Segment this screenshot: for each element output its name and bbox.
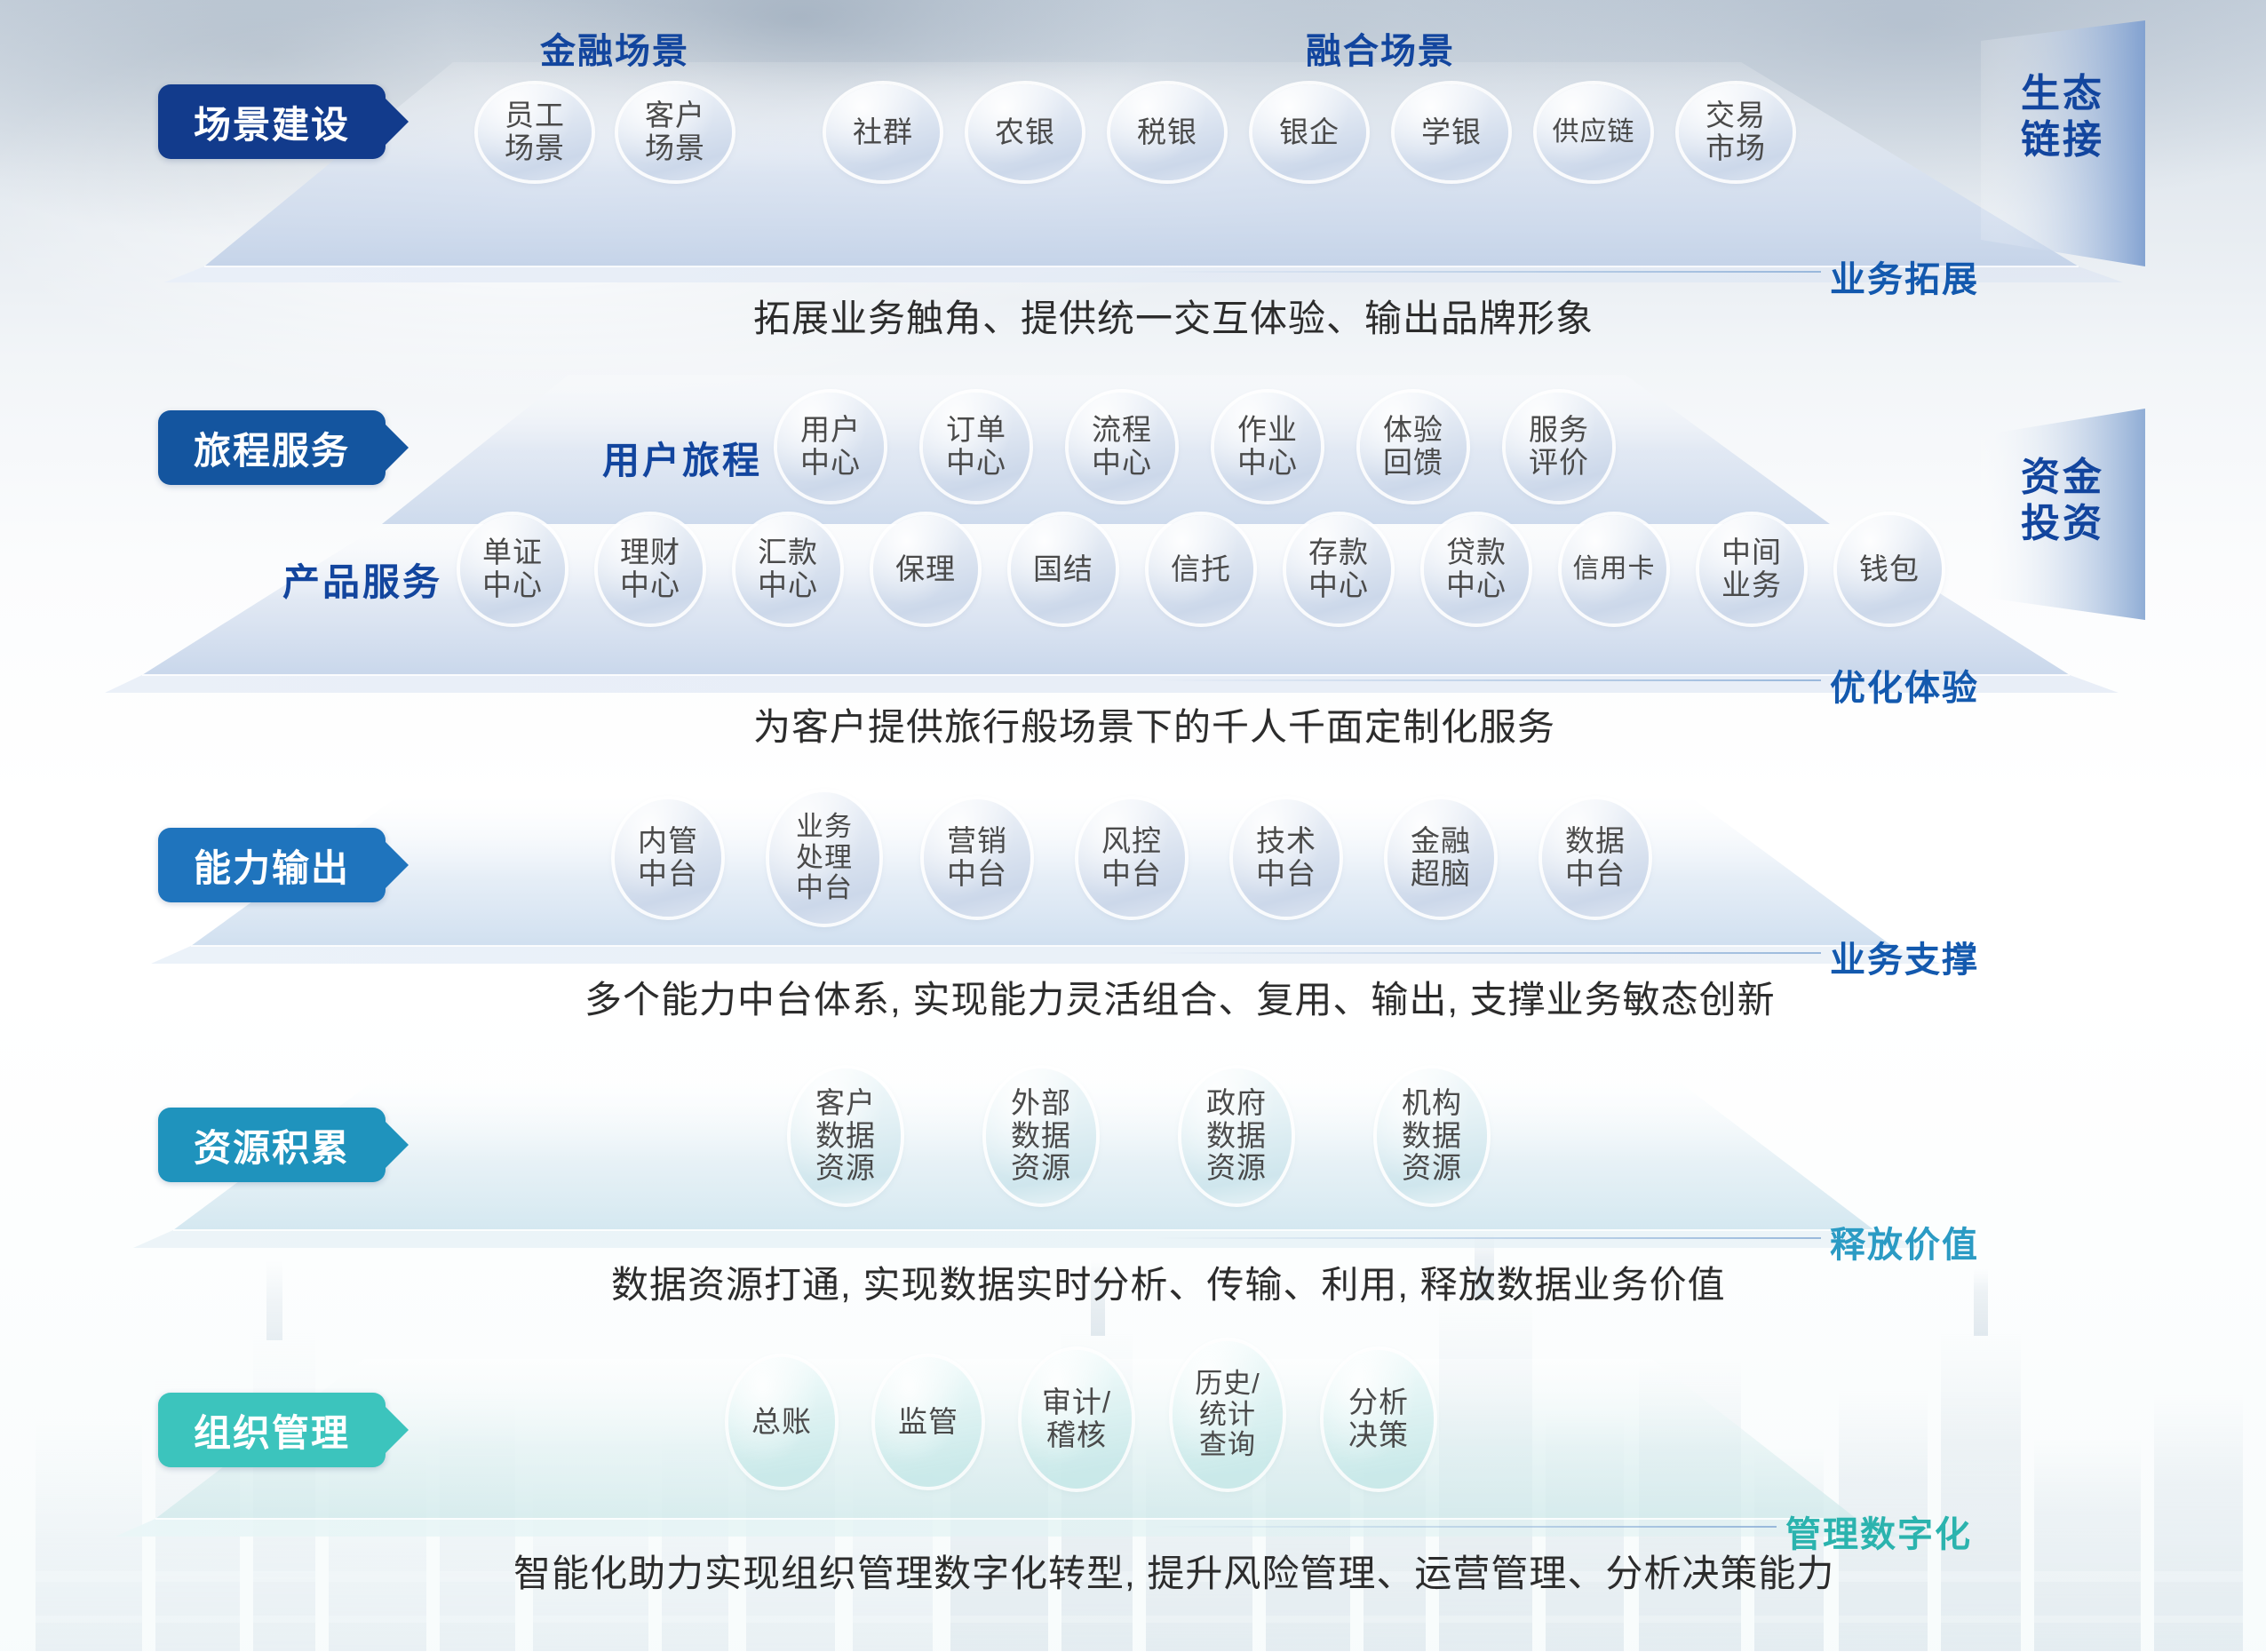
bubble-trading-market[interactable]: 交易 市场: [1679, 84, 1793, 180]
row-caption-user-journey: 用户旅程: [602, 431, 762, 485]
bubble-data-platform[interactable]: 数据中台: [1542, 799, 1649, 917]
tier-capability-output: 能力输出 内管中台 业务处理中台 营销中台 风控中台 技术中台 金融超脑 数据中…: [0, 773, 2266, 1039]
tier-right-label-business-support: 业务支撑: [1830, 931, 1979, 982]
group-caption-financial-scene: 金融场景: [540, 22, 689, 74]
vertical-banner-capital-investment: 资金投资: [1981, 409, 2167, 639]
row-caption-product-service: 产品服务: [282, 552, 442, 607]
badge-label: 场景建设: [194, 95, 350, 149]
bubble-audit-inspection[interactable]: 审计/稽核: [1022, 1350, 1132, 1489]
bubble-institution-data-resource[interactable]: 机构数据资源: [1377, 1068, 1487, 1203]
tier-organization-management: 组织管理 总账 监管 审计/稽核 历史/统计查询 分析决策 管理数字化 智能化助…: [0, 1332, 2266, 1652]
bubble-deposit-center[interactable]: 存款中心: [1286, 515, 1391, 623]
bubble-credit-card[interactable]: 信用卡: [1562, 515, 1666, 623]
badge-scene-construction[interactable]: 场景建设: [158, 84, 386, 159]
bubble-experience-feedback[interactable]: 体验回馈: [1360, 393, 1467, 501]
tier-rule-resource: [1155, 1237, 1821, 1239]
tier-scene-construction: 场景建设 金融场景 融合场景 员工 场景 客户 场景 社群 农银 税银 银企 学…: [0, 0, 2266, 320]
bubble-bank-enterprise[interactable]: 银企: [1252, 84, 1366, 180]
bubble-financial-brain[interactable]: 金融超脑: [1387, 799, 1494, 917]
bubble-loan-center[interactable]: 贷款中心: [1424, 515, 1529, 623]
badge-arrow-tail: [386, 842, 409, 888]
badge-arrow-tail: [386, 1122, 409, 1168]
bubble-supervision[interactable]: 监管: [875, 1357, 982, 1487]
tier-right-label-release-value: 释放价值: [1830, 1216, 1979, 1267]
bubble-factoring[interactable]: 保理: [873, 515, 978, 623]
badge-journey-service[interactable]: 旅程服务: [158, 410, 386, 485]
bubble-supply-chain[interactable]: 供应链: [1537, 84, 1650, 180]
badge-arrow-tail: [386, 425, 409, 471]
bubble-intermediary-business[interactable]: 中间业务: [1699, 515, 1804, 623]
badge-label: 组织管理: [194, 1403, 350, 1457]
tier-journey-service: 旅程服务 用户旅程 用户中心 订单中心 流程中心 作业中心 体验回馈 服务评价 …: [0, 355, 2266, 728]
bubble-wealth-center[interactable]: 理财中心: [598, 515, 703, 623]
bubble-operation-center[interactable]: 作业中心: [1214, 393, 1321, 501]
bubble-customer-scene[interactable]: 客户 场景: [618, 84, 732, 180]
banner-label-capital-investment: 资金投资: [2000, 455, 2125, 547]
bubble-history-statistics-query[interactable]: 历史/统计查询: [1173, 1341, 1283, 1489]
bubble-analysis-decision[interactable]: 分析决策: [1324, 1350, 1434, 1489]
bubble-community[interactable]: 社群: [826, 84, 940, 180]
group-caption-fusion-scene: 融合场景: [1306, 22, 1455, 74]
bubble-business-processing-platform[interactable]: 业务处理中台: [769, 792, 879, 924]
bubble-internal-mgmt-platform[interactable]: 内管中台: [615, 799, 721, 917]
vertical-banner-ecosystem-link: 生态链接: [1981, 16, 2167, 300]
tier-tagline-organization: 智能化助力实现组织管理数字化转型, 提升风险管理、运营管理、分析决策能力: [513, 1544, 1834, 1598]
tier-right-label-optimize-experience: 优化体验: [1830, 659, 1979, 711]
bubble-agri-bank[interactable]: 农银: [968, 84, 1082, 180]
badge-label: 能力输出: [194, 838, 350, 893]
bubble-tax-bank[interactable]: 税银: [1110, 84, 1224, 180]
bubble-government-data-resource[interactable]: 政府数据资源: [1181, 1068, 1292, 1203]
banner-label-ecosystem-link: 生态链接: [2000, 71, 2125, 163]
bubble-technology-platform[interactable]: 技术中台: [1233, 799, 1340, 917]
tier-rule-journey: [1155, 679, 1821, 681]
tier-tagline-scene: 拓展业务触角、提供统一交互体验、输出品牌形象: [753, 289, 1594, 343]
bubble-process-center[interactable]: 流程中心: [1069, 393, 1175, 501]
badge-label: 旅程服务: [194, 421, 350, 475]
bubble-customer-data-resource[interactable]: 客户数据资源: [791, 1068, 901, 1203]
tier-tagline-capability: 多个能力中台体系, 实现能力灵活组合、复用、输出, 支撑业务敏态创新: [584, 970, 1776, 1024]
tier-tagline-journey: 为客户提供旅行般场景下的千人千面定制化服务: [753, 697, 1555, 751]
pyramid-band-organization: [0, 1332, 2266, 1652]
badge-resource-accumulation[interactable]: 资源积累: [158, 1108, 386, 1182]
tier-tagline-resource: 数据资源打通, 实现数据实时分析、传输、利用, 释放数据业务价值: [611, 1255, 1726, 1309]
bubble-trust[interactable]: 信托: [1149, 515, 1253, 623]
bubble-external-data-resource[interactable]: 外部数据资源: [986, 1068, 1096, 1203]
badge-arrow-tail: [386, 99, 409, 145]
tier-rule-scene: [1155, 271, 1821, 273]
tier-rule-capability: [1155, 952, 1821, 954]
badge-label: 资源积累: [194, 1118, 350, 1172]
bubble-remittance-center[interactable]: 汇款中心: [735, 515, 840, 623]
tier-rule-organization: [1155, 1526, 1777, 1528]
bubble-risk-control-platform[interactable]: 风控中台: [1078, 799, 1185, 917]
bubble-employee-scene[interactable]: 员工 场景: [478, 84, 592, 180]
badge-organization-management[interactable]: 组织管理: [158, 1393, 386, 1467]
badge-capability-output[interactable]: 能力输出: [158, 828, 386, 902]
bubble-general-ledger[interactable]: 总账: [728, 1357, 835, 1487]
bubble-user-center[interactable]: 用户中心: [777, 393, 884, 501]
bubble-wallet[interactable]: 钱包: [1837, 515, 1942, 623]
bubble-marketing-platform[interactable]: 营销中台: [924, 799, 1030, 917]
tier-resource-accumulation: 资源积累 客户数据资源 外部数据资源 政府数据资源 机构数据资源 释放价值 数据…: [0, 1052, 2266, 1319]
bubble-school-bank[interactable]: 学银: [1395, 84, 1508, 180]
tier-right-label-business-expansion: 业务拓展: [1830, 250, 1979, 302]
bubble-document-center[interactable]: 单证中心: [460, 515, 565, 623]
badge-arrow-tail: [386, 1407, 409, 1453]
bubble-service-evaluation[interactable]: 服务评价: [1506, 393, 1612, 501]
bubble-intl-settlement[interactable]: 国结: [1011, 515, 1116, 623]
bubble-order-center[interactable]: 订单中心: [923, 393, 1030, 501]
